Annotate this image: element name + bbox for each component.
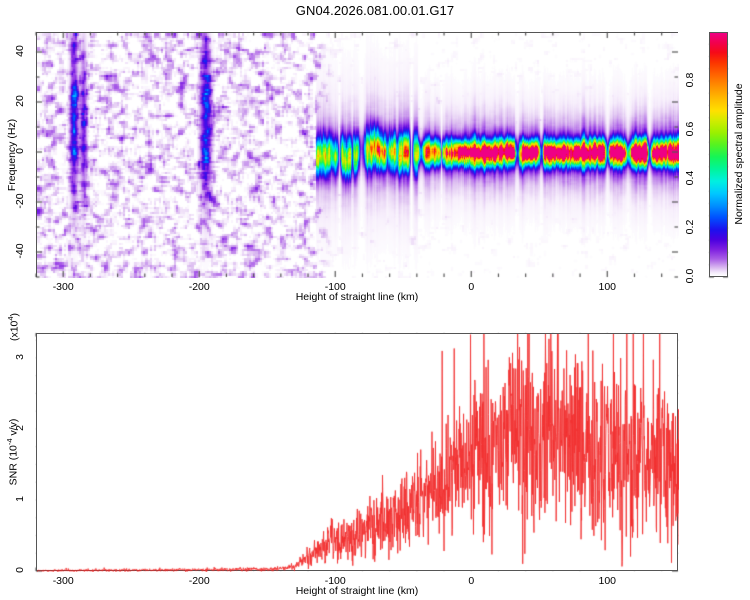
spec-ytick-1: 20	[14, 86, 26, 116]
colorbar-label-text: Normalized spectral amplitude	[733, 83, 745, 224]
colorbar-tick-0: 0.0	[684, 261, 696, 291]
colorbar-tick-2: 0.4	[684, 163, 696, 193]
spectrogram-image	[37, 33, 679, 278]
spectrogram-ylabel: Frequency (Hz)	[6, 118, 18, 190]
snr-xtick-4: 100	[577, 575, 637, 587]
spec-ytick-0: 40	[14, 36, 26, 66]
spec-xlabel: Height of straight line (km)	[296, 291, 419, 303]
snr-xlabel: Height of straight line (km)	[296, 585, 419, 597]
colorbar-tick-1: 0.2	[684, 212, 696, 242]
snr-xtick-0: -300	[33, 575, 93, 587]
spec-xtick-1: -200	[169, 281, 229, 293]
colorbar-tick-4: 0.8	[684, 65, 696, 95]
spec-ytick-4: -40	[14, 236, 26, 266]
figure-root: GN04.2026.081.00.01.G17 Normalized spect…	[0, 0, 750, 600]
spec-xtick-0: -300	[33, 281, 93, 293]
figure-title: GN04.2026.081.00.01.G17	[0, 3, 750, 18]
snr-trace	[37, 334, 679, 572]
spectrogram-panel	[36, 32, 678, 277]
snr-y-exponent: (x104)	[6, 313, 21, 341]
snr-panel	[36, 333, 678, 571]
spec-xtick-4: 100	[577, 281, 637, 293]
colorbar-tick-3: 0.6	[684, 114, 696, 144]
snr-ytick-3: 3	[14, 342, 26, 372]
snr-ytick-0: 0	[14, 555, 26, 585]
spec-xtick-3: 0	[441, 281, 501, 293]
colorbar-label: Normalized spectral amplitude	[732, 32, 746, 277]
snr-ylabel: SNR (10-4 v/v)	[5, 419, 20, 486]
snr-ytick-1: 1	[14, 484, 26, 514]
colorbar-ticks	[690, 28, 730, 283]
snr-xtick-3: 0	[441, 575, 501, 587]
snr-xtick-1: -200	[169, 575, 229, 587]
